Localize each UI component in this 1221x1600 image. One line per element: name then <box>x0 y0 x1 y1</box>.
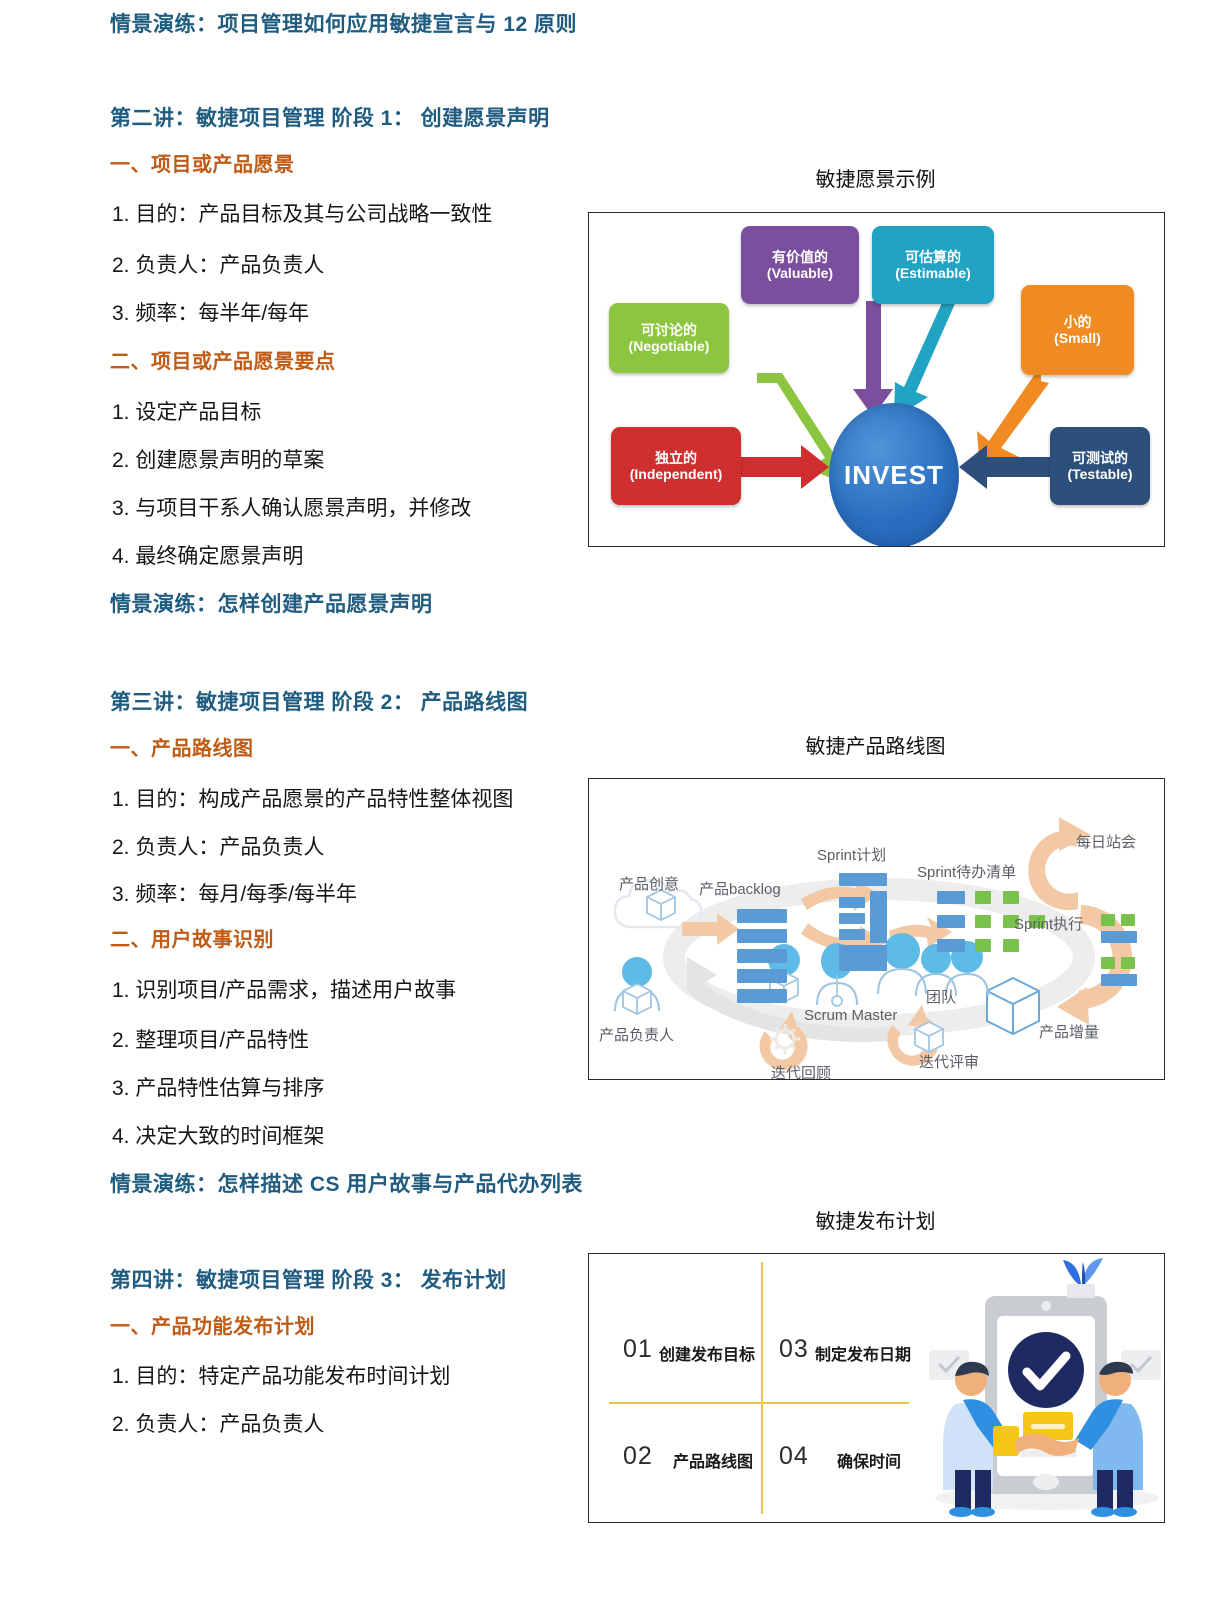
scrum-label-team: 团队 <box>926 986 956 1007</box>
figure-invest: INVEST 可讨论的 (Negotiable) 有价值的 (Valuable)… <box>588 212 1165 547</box>
figure-release: 01 创建发布目标 03 制定发布日期 02 产品路线图 04 确保时间 <box>588 1253 1165 1523</box>
lecture2-heading: 第二讲：敏捷项目管理 阶段 1： 创建愿景声明 <box>110 106 550 132</box>
figure-scrum: 产品创意 产品负责人 产品backlog Sprint计划 Sprint待办清单… <box>588 778 1165 1080</box>
sprint-plan-bar <box>870 891 887 943</box>
quadrant-label: 确保时间 <box>837 1448 901 1472</box>
lecture2-section1-heading: 一、项目或产品愿景 <box>110 153 295 178</box>
quadrant-number: 03 <box>779 1335 809 1364</box>
invest-node-small: 小的 (Small) <box>1021 285 1134 375</box>
lecture3-heading: 第三讲：敏捷项目管理 阶段 2： 产品路线图 <box>110 690 528 716</box>
sprint-backlog-bar <box>937 891 965 904</box>
list-item: 1. 识别项目/产品需求，描述用户故事 <box>112 977 456 1004</box>
list-item: 2. 负责人：产品负责人 <box>112 834 324 861</box>
figure-release-caption: 敏捷发布计划 <box>588 1205 1163 1234</box>
invest-node-en: (Independent) <box>630 466 723 482</box>
sprint-exec-bar <box>1121 957 1135 969</box>
scrum-label-sprint-review: 迭代评审 <box>919 1051 979 1072</box>
sprint-backlog-bar <box>1003 891 1019 904</box>
list-item: 1. 目的：构成产品愿景的产品特性整体视图 <box>112 786 513 813</box>
sprint-plan-bar <box>839 945 887 971</box>
scrum-label-sprint-execution: Sprint执行 <box>1014 913 1083 934</box>
sprint-backlog-bar <box>975 939 991 952</box>
sprint-plan-bar <box>839 929 865 940</box>
sprint-backlog-bar <box>975 891 991 904</box>
invest-node-en: (Testable) <box>1067 466 1132 482</box>
backlog-bar <box>737 929 787 943</box>
invest-node-cn: 可估算的 <box>905 249 961 265</box>
lecture3-section2-heading: 二、用户故事识别 <box>110 928 274 953</box>
invest-node-en: (Estimable) <box>895 265 970 281</box>
sprint-backlog-bar <box>937 915 965 928</box>
list-item: 2. 创建愿景声明的草案 <box>112 447 324 474</box>
backlog-bar <box>737 949 787 963</box>
sprint-plan-bar <box>839 897 865 908</box>
scrum-label-sprint-backlog: Sprint待办清单 <box>917 861 1016 882</box>
quadrant-number: 02 <box>623 1442 653 1471</box>
list-item: 1. 目的：特定产品功能发布时间计划 <box>112 1363 450 1390</box>
backlog-bar <box>737 989 787 1003</box>
invest-center-circle: INVEST <box>829 403 959 547</box>
sprint-backlog-bar <box>975 915 991 928</box>
sprint-plan-bar <box>839 913 865 924</box>
scrum-label-product-backlog: 产品backlog <box>699 878 781 899</box>
quadrant-vertical-divider <box>761 1262 763 1514</box>
sprint-backlog-bar <box>937 939 965 952</box>
lecture4-heading: 第四讲：敏捷项目管理 阶段 3： 发布计划 <box>110 1268 507 1294</box>
backlog-bar <box>737 969 787 983</box>
sprint-backlog-bar <box>1003 939 1019 952</box>
figure-scrum-caption: 敏捷产品路线图 <box>588 730 1163 759</box>
list-item: 3. 频率：每月/每季/每半年 <box>112 881 357 908</box>
invest-node-cn: 可讨论的 <box>641 322 697 338</box>
list-item: 1. 设定产品目标 <box>112 399 261 426</box>
invest-center-label: INVEST <box>844 460 944 491</box>
invest-node-negotiable: 可讨论的 (Negotiable) <box>609 303 729 373</box>
invest-node-cn: 可测试的 <box>1072 450 1128 466</box>
quadrant-number: 01 <box>623 1335 653 1364</box>
top-exercise-heading: 情景演练：项目管理如何应用敏捷宣言与 12 原则 <box>110 12 577 38</box>
list-item: 1. 目的：产品目标及其与公司战略一致性 <box>112 201 492 228</box>
list-item: 2. 负责人：产品负责人 <box>112 252 324 279</box>
quadrant-number: 04 <box>779 1442 809 1471</box>
sprint-exec-bar <box>1101 957 1115 969</box>
scrum-label-daily-standup: 每日站会 <box>1076 831 1136 852</box>
scrum-label-scrum-master: Scrum Master <box>804 1007 897 1024</box>
scrum-label-product-idea: 产品创意 <box>619 873 679 894</box>
sprint-exec-bar <box>1101 931 1137 943</box>
invest-node-estimable: 可估算的 (Estimable) <box>872 226 994 304</box>
list-item: 3. 频率：每半年/每年 <box>112 300 309 327</box>
lecture2-section2-heading: 二、项目或产品愿景要点 <box>110 350 336 375</box>
invest-node-independent: 独立的 (Independent) <box>611 427 741 505</box>
quadrant-label: 创建发布目标 <box>659 1341 755 1365</box>
sprint-exec-bar <box>1101 974 1137 986</box>
lecture2-exercise: 情景演练：怎样创建产品愿景声明 <box>110 592 433 618</box>
invest-node-cn: 独立的 <box>655 450 697 466</box>
quadrant-horizontal-divider <box>609 1402 909 1404</box>
lecture4-section1-heading: 一、产品功能发布计划 <box>110 1315 315 1340</box>
lecture3-exercise: 情景演练：怎样描述 CS 用户故事与产品代办列表 <box>110 1172 583 1198</box>
scrum-label-product-increment: 产品增量 <box>1039 1021 1099 1042</box>
list-item: 3. 产品特性估算与排序 <box>112 1075 324 1102</box>
list-item: 4. 最终确定愿景声明 <box>112 543 303 570</box>
list-item: 3. 与项目干系人确认愿景声明，并修改 <box>112 495 471 522</box>
invest-node-cn: 有价值的 <box>772 249 828 265</box>
figure-invest-caption: 敏捷愿景示例 <box>588 163 1163 192</box>
scrum-label-sprint-planning: Sprint计划 <box>817 844 886 865</box>
list-item: 4. 决定大致的时间框架 <box>112 1123 324 1150</box>
sprint-exec-bar <box>1121 914 1135 926</box>
invest-node-valuable: 有价值的 (Valuable) <box>741 226 859 304</box>
lecture3-section1-heading: 一、产品路线图 <box>110 737 254 762</box>
list-item: 2. 负责人：产品负责人 <box>112 1411 324 1438</box>
quadrant-label: 制定发布日期 <box>815 1341 911 1365</box>
sprint-exec-bar <box>1101 914 1115 926</box>
release-illustration <box>919 1254 1165 1522</box>
invest-node-en: (Valuable) <box>767 265 833 281</box>
list-item: 2. 整理项目/产品特性 <box>112 1027 309 1054</box>
scrum-label-product-owner: 产品负责人 <box>599 1024 674 1045</box>
invest-node-en: (Small) <box>1054 330 1101 346</box>
quadrant-label: 产品路线图 <box>673 1448 753 1472</box>
backlog-bar <box>737 909 787 923</box>
invest-node-cn: 小的 <box>1064 314 1092 330</box>
scrum-label-retrospective: 迭代回顾 <box>771 1062 831 1080</box>
invest-node-en: (Negotiable) <box>629 338 710 354</box>
invest-node-testable: 可测试的 (Testable) <box>1050 427 1150 505</box>
sprint-plan-bar <box>839 873 887 886</box>
